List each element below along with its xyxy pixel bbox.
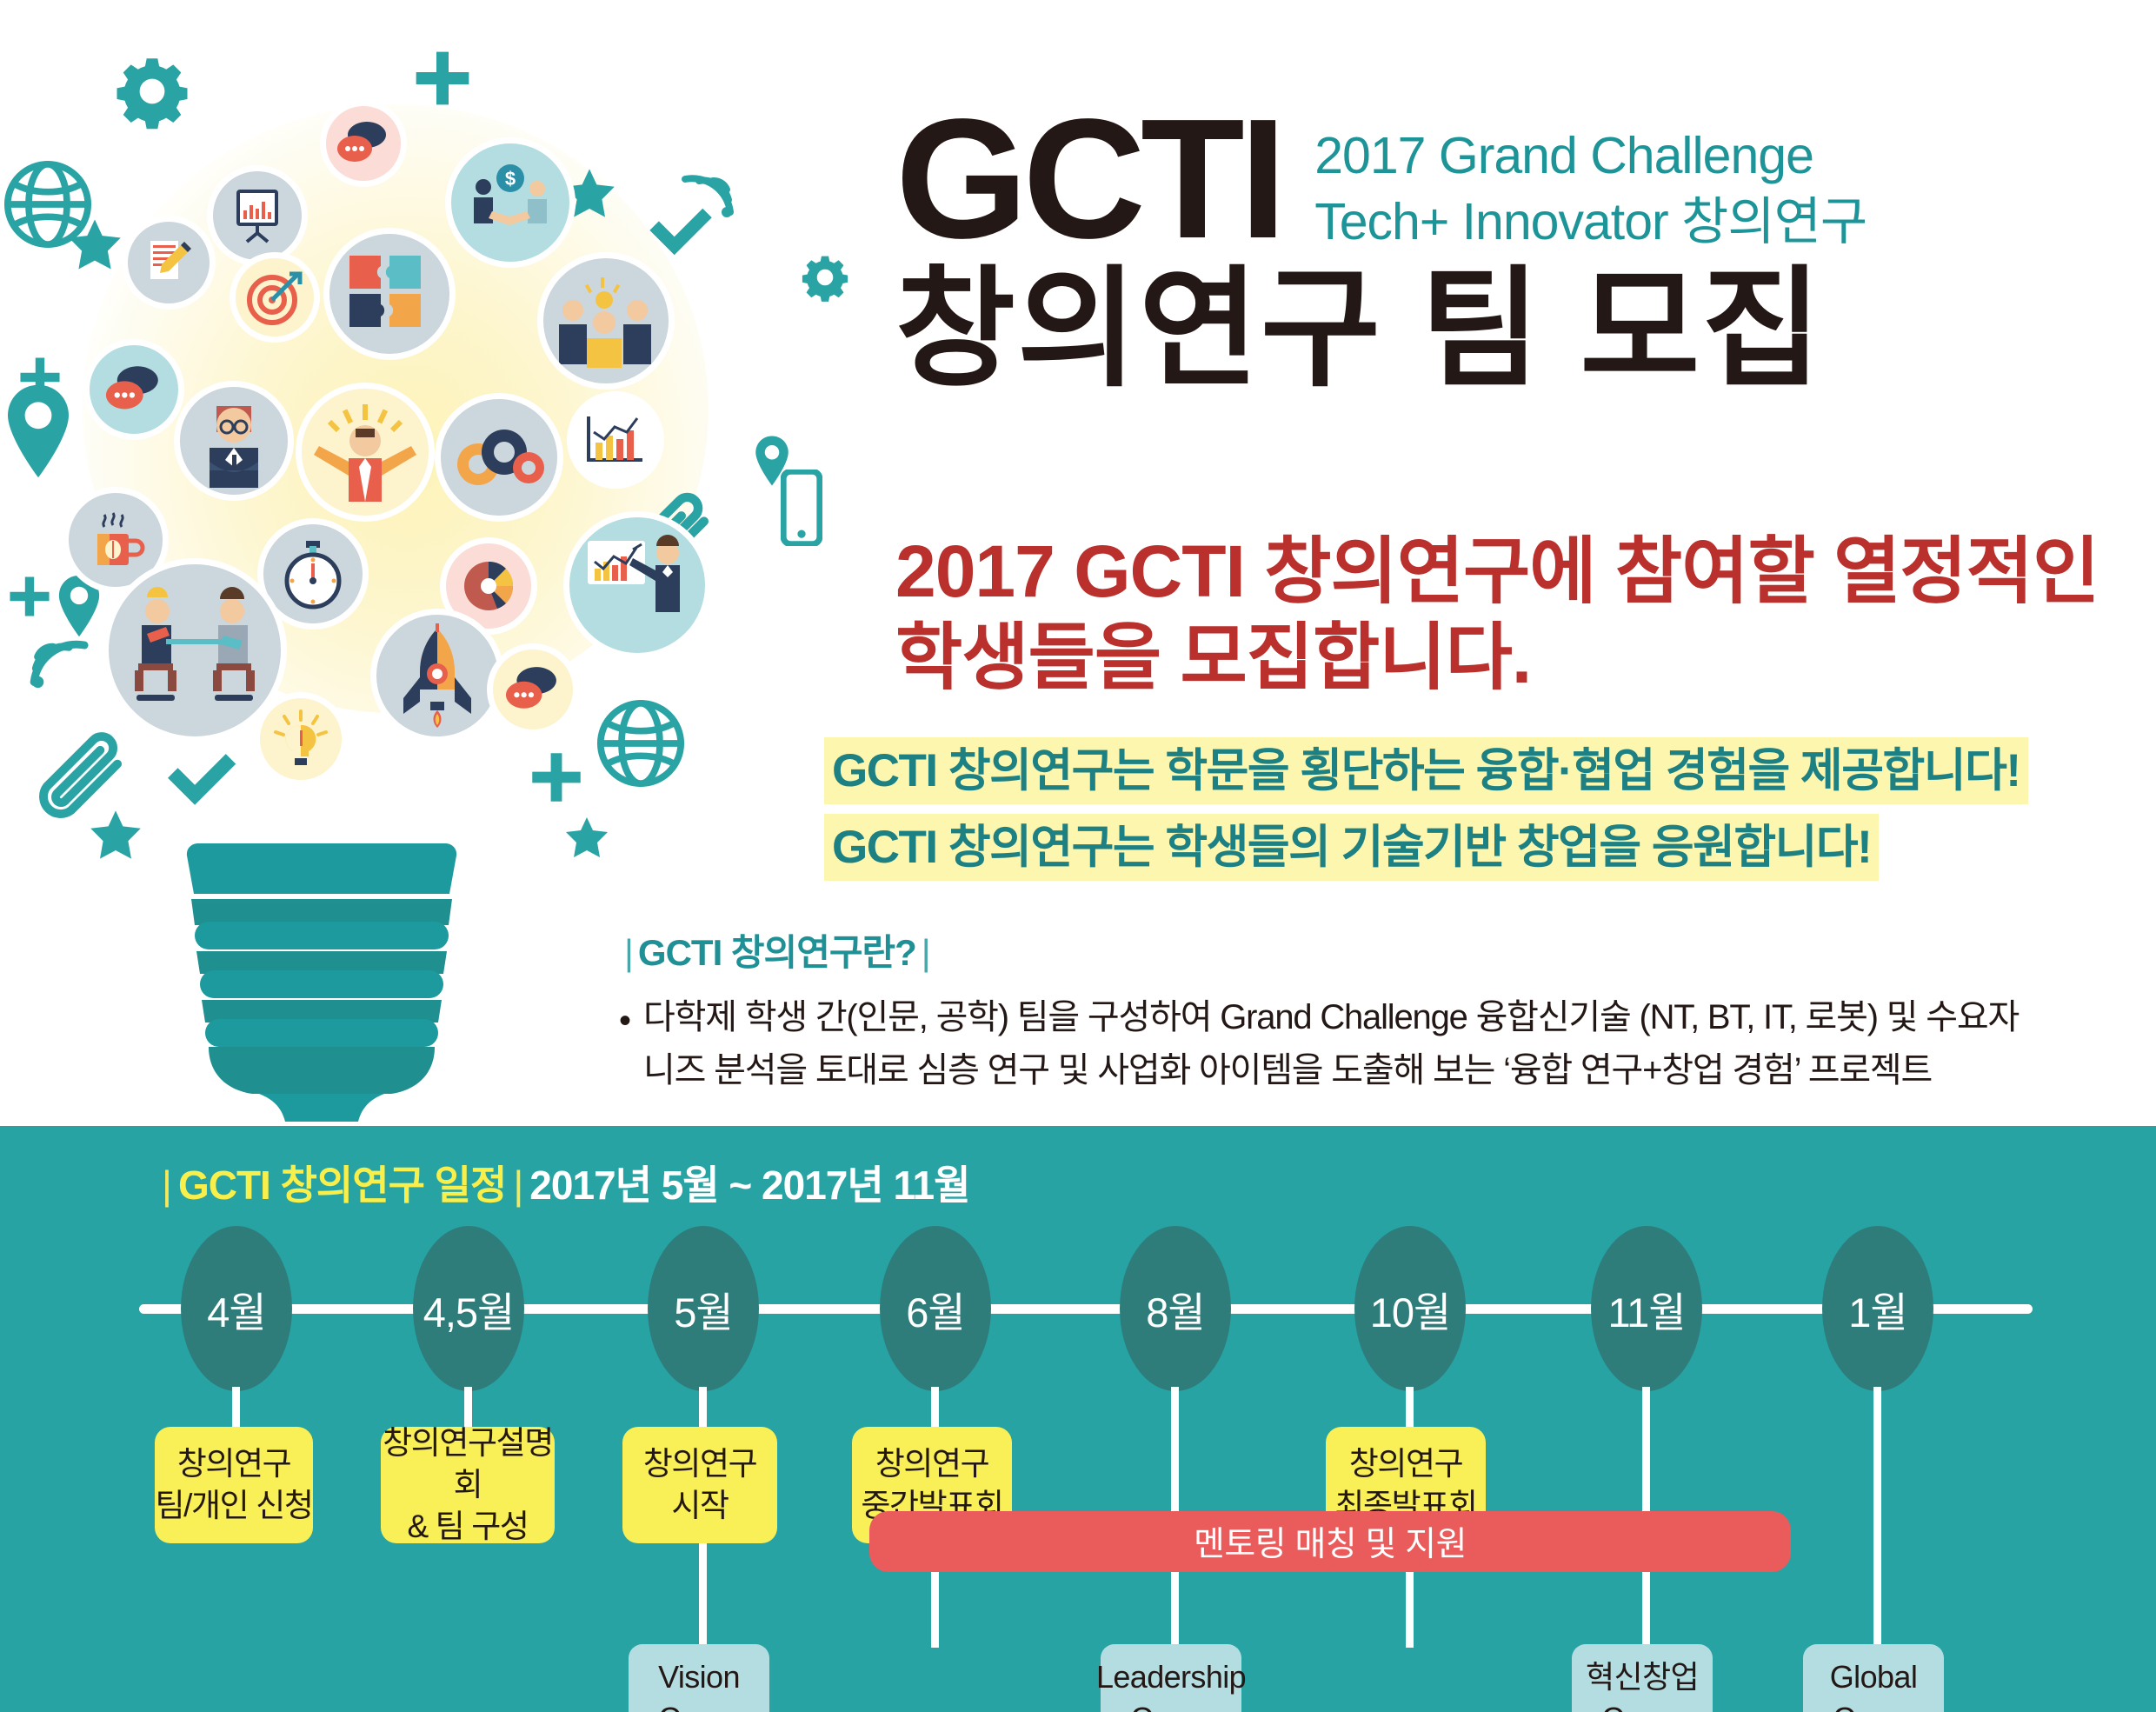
connector-stem bbox=[232, 1387, 240, 1429]
star-icon bbox=[565, 816, 609, 859]
title-block: GCTI 2017 Grand Challenge Tech+ Innovato… bbox=[895, 104, 2139, 394]
timeline-node-label: 11월 bbox=[1607, 1279, 1685, 1339]
highlight-line-1: GCTI 창의연구는 학문을 횡단하는 융합·협업 경험을 제공합니다! bbox=[824, 737, 2028, 804]
timeline-node-label: 10월 bbox=[1370, 1279, 1451, 1339]
connector-stem bbox=[931, 1387, 939, 1429]
about-body: • 다학제 학생 간(인문, 공학) 팀을 구성하여 Grand Challen… bbox=[619, 991, 2136, 1097]
camp-label: Global Camp bbox=[1830, 1656, 1917, 1712]
presenter-chart-icon bbox=[563, 511, 711, 659]
page-title: 창의연구 팀 모집 bbox=[895, 263, 2139, 394]
camp-box-1: Vision Camp bbox=[629, 1644, 769, 1712]
schedule-bar-left: | bbox=[155, 1162, 178, 1208]
camp-label: Leadership Camp bbox=[1096, 1656, 1246, 1712]
timeline-node-2: 4,5월 bbox=[413, 1226, 524, 1391]
poster-root: $ bbox=[0, 0, 2156, 1712]
camp-box-2: Leadership Camp bbox=[1101, 1644, 1241, 1712]
milestone-label: 창의연구 팀/개인 신청 bbox=[156, 1443, 313, 1527]
paperclip-icon bbox=[26, 730, 135, 822]
presentation-board-icon bbox=[207, 165, 308, 266]
camp-label: Vision Camp bbox=[658, 1656, 740, 1712]
check-icon bbox=[161, 749, 241, 810]
schedule-band: |GCTI 창의연구 일정|2017년 5월 ~ 2017년 11월 4월 4,… bbox=[0, 1126, 2156, 1712]
camp-box-3: 혁신창업 Camp bbox=[1572, 1644, 1713, 1712]
document-pencil-icon bbox=[122, 216, 216, 310]
chat-bubbles-icon bbox=[320, 100, 407, 187]
timeline-node-7: 11월 bbox=[1591, 1226, 1702, 1391]
connector-stem bbox=[1406, 1387, 1414, 1429]
timeline-node-label: 4,5월 bbox=[423, 1279, 515, 1339]
plus-icon bbox=[7, 574, 52, 619]
bullet-marker: • bbox=[619, 995, 630, 1048]
timeline-node-5: 8월 bbox=[1120, 1226, 1231, 1391]
plus-icon bbox=[529, 749, 584, 805]
mentoring-matching-bar: 멘토링 매칭 및 지원 bbox=[869, 1511, 1791, 1572]
connector-stem bbox=[699, 1387, 707, 1429]
line-chart-icon bbox=[567, 391, 664, 489]
camp-label: 혁신창업 Camp bbox=[1586, 1656, 1699, 1712]
chat-bubbles-icon bbox=[83, 339, 184, 440]
gear-icon bbox=[800, 252, 850, 303]
star-icon bbox=[68, 217, 122, 271]
plus-icon bbox=[412, 48, 473, 109]
target-arrow-icon bbox=[230, 252, 320, 343]
milestone-box-1: 창의연구 팀/개인 신청 bbox=[155, 1427, 313, 1543]
about-heading: |GCTI 창의연구란?| bbox=[619, 923, 935, 976]
globe-icon bbox=[593, 696, 689, 791]
about-heading-bar-left: | bbox=[619, 932, 638, 973]
milestone-box-2: 창의연구설명회 & 팀 구성 bbox=[381, 1427, 555, 1543]
gears-icon bbox=[435, 393, 563, 522]
timeline-node-6: 10월 bbox=[1354, 1226, 1466, 1391]
check-icon bbox=[643, 204, 716, 260]
schedule-heading: |GCTI 창의연구 일정|2017년 5월 ~ 2017년 11월 bbox=[155, 1154, 969, 1211]
milestone-box-3: 창의연구 시작 bbox=[622, 1427, 777, 1543]
logo-subtitle: 2017 Grand Challenge Tech+ Innovator 창의연… bbox=[1314, 123, 1867, 255]
schedule-period: 2017년 5월 ~ 2017년 11월 bbox=[529, 1162, 969, 1208]
about-heading-text: GCTI 창의연구란? bbox=[638, 932, 916, 973]
red-headline: 2017 GCTI 창의연구에 참여할 열정적인 학생들을 모집합니다. bbox=[895, 529, 2147, 701]
camp-box-4: Global Camp bbox=[1803, 1644, 1944, 1712]
mentoring-label: 멘토링 매칭 및 지원 bbox=[1194, 1517, 1467, 1566]
logo-text: GCTI bbox=[895, 104, 1281, 254]
timeline-node-label: 8월 bbox=[1146, 1279, 1204, 1339]
timeline-node-8: 1월 bbox=[1822, 1226, 1933, 1391]
timeline-node-4: 6월 bbox=[880, 1226, 991, 1391]
timeline-node-3: 5월 bbox=[648, 1226, 759, 1391]
lightbulb-icon bbox=[254, 692, 348, 786]
team-idea-icon bbox=[537, 252, 675, 390]
gear-icon bbox=[113, 52, 191, 130]
map-pin-icon bbox=[0, 383, 77, 480]
timeline-node-1: 4월 bbox=[181, 1226, 292, 1391]
bulb-base-shape bbox=[165, 835, 478, 1122]
chat-bubbles-icon bbox=[487, 643, 579, 736]
wifi-icon bbox=[24, 630, 92, 693]
highlight-line-2: GCTI 창의연구는 학생들의 기술기반 창업을 응원합니다! bbox=[824, 814, 1879, 881]
timeline-node-label: 1월 bbox=[1848, 1279, 1906, 1339]
handshake-money-icon: $ bbox=[445, 137, 576, 268]
rocket-icon bbox=[370, 609, 504, 743]
businessman-icon bbox=[174, 381, 294, 501]
raised-arms-person-icon bbox=[296, 383, 435, 522]
milestone-label: 창의연구설명회 & 팀 구성 bbox=[381, 1422, 555, 1548]
smartphone-icon bbox=[781, 470, 822, 546]
about-body-text: 다학제 학생 간(인문, 공학) 팀을 구성하여 Grand Challenge… bbox=[619, 991, 2136, 1097]
puzzle-icon bbox=[323, 228, 456, 360]
timeline-node-label: 5월 bbox=[674, 1279, 732, 1339]
highlight-list: GCTI 창의연구는 학문을 횡단하는 융합·협업 경험을 제공합니다! GCT… bbox=[824, 737, 2028, 890]
timeline-node-label: 4월 bbox=[207, 1279, 265, 1339]
timeline-node-label: 6월 bbox=[906, 1279, 964, 1339]
schedule-title: GCTI 창의연구 일정 bbox=[178, 1162, 506, 1208]
svg-text:$: $ bbox=[505, 168, 516, 190]
milestone-label: 창의연구 시작 bbox=[643, 1443, 757, 1527]
schedule-bar-mid: | bbox=[506, 1162, 529, 1208]
about-heading-bar-right: | bbox=[916, 932, 935, 973]
